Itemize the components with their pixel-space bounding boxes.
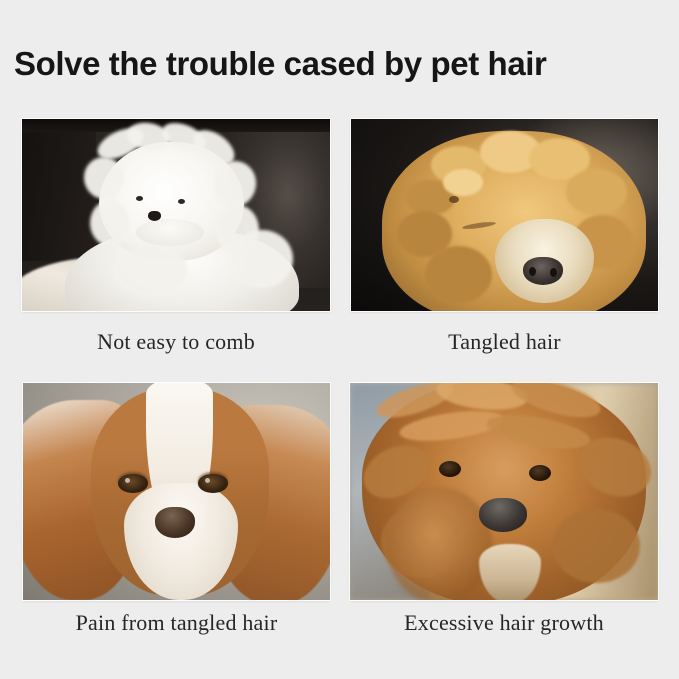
photo1-muzzle [136, 219, 204, 246]
photo3-nose [155, 507, 195, 538]
photo2-curl [443, 169, 483, 196]
photo-card-not-easy-to-comb[interactable] [22, 119, 330, 311]
photo-cavalier-spaniel [23, 383, 330, 600]
photo4-cheek-fur [387, 487, 492, 600]
photo-card-excessive-hair-growth[interactable] [350, 383, 658, 600]
photo1-hair-tuft [114, 246, 188, 296]
photo3-eye-glint-left [125, 478, 130, 483]
photo2-curl [566, 169, 627, 215]
photo-card-tangled-hair[interactable] [351, 119, 658, 311]
photo2-curl [425, 246, 493, 304]
photo4-chin-fur [479, 544, 541, 600]
infographic-page: Solve the trouble cased by pet hair [0, 0, 679, 679]
photo3-eye-glint-right [205, 478, 210, 483]
photo-golden-poodle [351, 119, 658, 311]
photo1-dark-wall-left [22, 119, 96, 261]
photo1-hair-tuft [90, 200, 130, 246]
photo-caption-excessive-hair-growth: Excessive hair growth [350, 610, 658, 636]
photo4-hair-strand [553, 509, 639, 583]
photo-caption-tangled-hair: Tangled hair [351, 329, 658, 355]
photo-caption-pain-from-tangled-hair: Pain from tangled hair [23, 610, 330, 636]
photo1-eye-right [178, 199, 185, 204]
photo2-nostril-left [529, 267, 536, 276]
photo-white-scruffy-dog [22, 119, 330, 311]
photo1-eye-left [136, 196, 143, 201]
photo-shaggy-cockapoo [350, 383, 658, 600]
photo-card-pain-from-tangled-hair[interactable] [23, 383, 330, 600]
photo1-hair-tuft [231, 230, 293, 288]
photo-caption-not-easy-to-comb: Not easy to comb [22, 329, 330, 355]
photo-grid: Not easy to comb [0, 0, 679, 679]
photo2-fur-shadow [449, 196, 459, 203]
photo3-eye-right [198, 474, 228, 493]
photo2-nostril-right [550, 268, 557, 277]
photo2-nose [523, 257, 563, 285]
